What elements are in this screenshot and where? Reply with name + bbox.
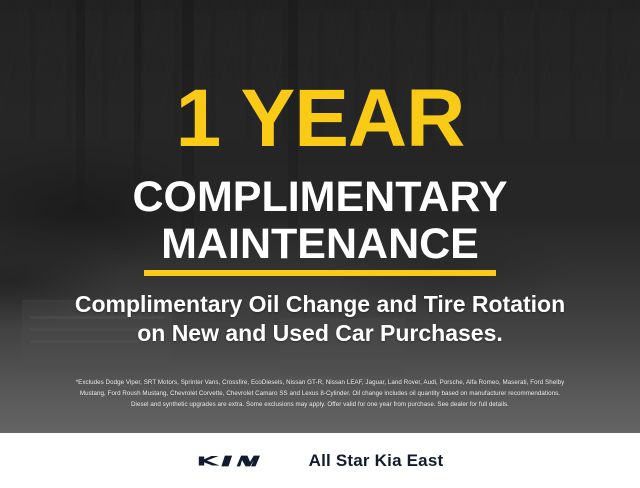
disclaimer-line-3: Diesel and synthetic upgrades are extra.…	[14, 399, 626, 410]
kia-logo-icon	[197, 450, 287, 472]
tagline: Complimentary Oil Change and Tire Rotati…	[0, 290, 640, 348]
dealer-name: All Star Kia East	[309, 451, 444, 471]
disclaimer-text: *Excludes Dodge Viper, SRT Motors, Sprin…	[14, 377, 626, 410]
promo-banner: 1 YEAR COMPLIMENTARY MAINTENANCE Complim…	[0, 0, 640, 488]
headline-year: 1 YEAR	[0, 78, 640, 160]
disclaimer-line-1: *Excludes Dodge Viper, SRT Motors, Sprin…	[14, 377, 626, 388]
headline-complimentary: COMPLIMENTARY	[0, 176, 640, 219]
tagline-line-1: Complimentary Oil Change and Tire Rotati…	[0, 290, 640, 319]
headline-maintenance: MAINTENANCE	[0, 223, 640, 266]
yellow-divider-bar	[144, 270, 496, 276]
tagline-line-2: on New and Used Car Purchases.	[0, 319, 640, 348]
banner-footer: All Star Kia East	[0, 433, 640, 488]
disclaimer-line-2: Mustang, Ford Roush Mustang, Chevrolet C…	[14, 388, 626, 399]
banner-content: 1 YEAR COMPLIMENTARY MAINTENANCE Complim…	[0, 0, 640, 433]
